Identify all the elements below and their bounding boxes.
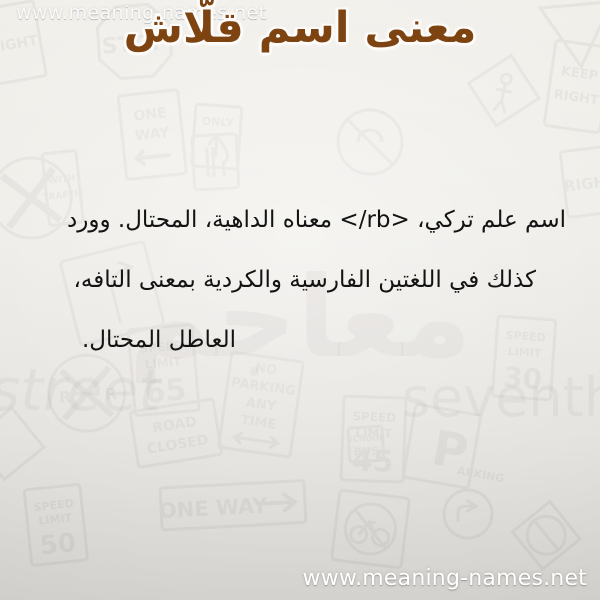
name-meaning-paragraph: اسم علم تركي، <rb/> معناه الداهية، المحت… xyxy=(34,190,566,370)
paragraph-line-2: كذلك في اللغتين الفارسية والكردية بمعنى … xyxy=(34,250,566,310)
page-canvas: KEEP RIGHT ONE WAY ONLY xyxy=(0,0,600,600)
paragraph-line-1: اسم علم تركي، <rb/> معناه الداهية، المحت… xyxy=(34,190,566,250)
paragraph-line-3: العاطل المحتال. xyxy=(34,310,566,370)
page-title: معنى اسم قلّاش xyxy=(0,4,600,53)
